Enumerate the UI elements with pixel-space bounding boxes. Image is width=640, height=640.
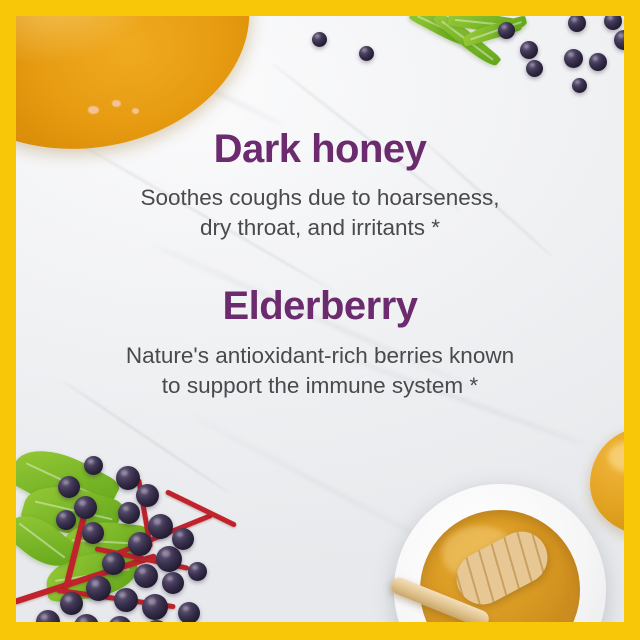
- elderberry: [162, 572, 184, 594]
- elderberry: [312, 32, 327, 47]
- elderberry: [148, 514, 173, 539]
- elderberry: [74, 496, 97, 519]
- elderberry: [564, 49, 583, 68]
- elderberry: [60, 592, 83, 615]
- elderberry: [116, 466, 140, 490]
- elderberry: [142, 594, 168, 620]
- elderberry: [568, 16, 586, 32]
- elderberry: [144, 620, 169, 622]
- description-line: Soothes coughs due to hoarseness,: [16, 183, 624, 213]
- honeycomb-crumb: [88, 106, 99, 114]
- honey-bowl: [394, 484, 606, 622]
- elderberry: [614, 30, 624, 50]
- elderberry: [589, 53, 607, 71]
- elderberry: [82, 522, 104, 544]
- elderberry: [136, 484, 159, 507]
- description-line: dry throat, and irritants *: [16, 213, 624, 243]
- description-elderberry: Nature's antioxidant-rich berries known …: [16, 341, 624, 401]
- ingredient-group-dark-honey: Dark honey Soothes coughs due to hoarsen…: [16, 128, 624, 243]
- elderberry: [114, 588, 138, 612]
- product-ingredient-card: Dark honey Soothes coughs due to hoarsen…: [0, 0, 640, 640]
- elderberry: [86, 576, 111, 601]
- elderberry: [572, 78, 587, 93]
- honeycomb-crumb: [112, 100, 121, 107]
- elderberry: [188, 562, 207, 581]
- elderberry: [56, 510, 76, 530]
- description-dark-honey: Soothes coughs due to hoarseness, dry th…: [16, 183, 624, 243]
- elderberry: [102, 552, 125, 575]
- heading-dark-honey: Dark honey: [16, 128, 624, 171]
- elderberry: [58, 476, 80, 498]
- marble-background-photo: Dark honey Soothes coughs due to hoarsen…: [16, 16, 624, 622]
- elderberry: [108, 616, 132, 622]
- elderberry: [359, 46, 374, 61]
- elderberry: [172, 528, 194, 550]
- heading-elderberry: Elderberry: [16, 285, 624, 328]
- elderberry: [604, 16, 622, 30]
- honeycomb-icon: [16, 16, 101, 28]
- elderberry: [36, 610, 60, 622]
- description-line: Nature's antioxidant-rich berries known: [16, 341, 624, 371]
- elderberry: [84, 456, 103, 475]
- elderberry: [498, 22, 515, 39]
- description-line: to support the immune system *: [16, 371, 624, 401]
- honeycomb-crumb: [132, 108, 139, 114]
- elderberry: [134, 564, 158, 588]
- elderberry: [118, 502, 140, 524]
- elderberry: [128, 532, 152, 556]
- elderberry: [520, 41, 538, 59]
- ingredient-copy: Dark honey Soothes coughs due to hoarsen…: [16, 128, 624, 401]
- elderberry: [178, 602, 200, 622]
- elderberry: [526, 60, 543, 77]
- elderberry: [156, 546, 182, 572]
- elderberry: [74, 614, 99, 622]
- ingredient-group-elderberry: Elderberry Nature's antioxidant-rich ber…: [16, 285, 624, 400]
- honey-puddle: [590, 428, 624, 536]
